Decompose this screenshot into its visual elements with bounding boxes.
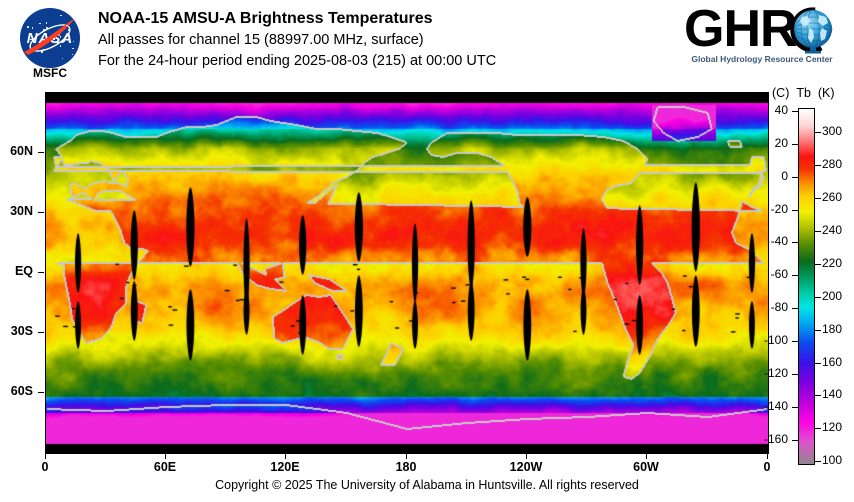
colorbar-label-celsius: -120 <box>744 366 788 380</box>
colorbar-tick-kelvin <box>815 231 821 232</box>
lon-tick <box>45 453 46 459</box>
colorbar-label-celsius: -80 <box>744 300 788 314</box>
lat-label: 60N <box>0 144 33 158</box>
colorbar-tick-kelvin <box>815 132 821 133</box>
ghrc-tagline: Global Hydrology Resource Center <box>682 54 842 64</box>
nasa-star <box>66 25 68 27</box>
lat-label: EQ <box>0 264 33 278</box>
nasa-star <box>68 29 70 31</box>
colorbar-label-celsius: 20 <box>744 136 788 150</box>
colorbar-tick-celsius <box>792 210 798 211</box>
colorbar-tick-celsius <box>792 144 798 145</box>
nasa-star <box>53 38 55 40</box>
lon-label: 60W <box>616 460 676 474</box>
colorbar-label-kelvin: 220 <box>822 256 854 270</box>
colorbar-label-kelvin: 280 <box>822 157 854 171</box>
ghrc-acronym: GHR <box>682 4 842 58</box>
colorbar-tick-kelvin <box>815 198 821 199</box>
colorbar-label-kelvin: 140 <box>822 387 854 401</box>
colorbar-tick-celsius <box>792 440 798 441</box>
colorbar-label-celsius: 40 <box>744 103 788 117</box>
nasa-star <box>57 42 59 44</box>
colorbar-unit-celsius: (C) <box>772 86 789 100</box>
lat-tick <box>38 212 44 213</box>
colorbar-tick-celsius <box>792 308 798 309</box>
lon-tick <box>526 453 527 459</box>
colorbar-label-kelvin: 160 <box>822 355 854 369</box>
brightness-temperature-map[interactable] <box>46 93 768 453</box>
lon-label: 0 <box>15 460 75 474</box>
colorbar-tick-kelvin <box>815 461 821 462</box>
lat-label: 30S <box>0 324 33 338</box>
colorbar-tick-kelvin <box>815 297 821 298</box>
nasa-center-label: MSFC <box>14 66 86 80</box>
colorbar-label-celsius: -60 <box>744 267 788 281</box>
lon-label: 60E <box>135 460 195 474</box>
colorbar-label-kelvin: 260 <box>822 190 854 204</box>
page-title: NOAA-15 AMSU-A Brightness Temperatures <box>98 8 658 30</box>
colorbar[interactable] <box>798 108 815 465</box>
colorbar-label-kelvin: 100 <box>822 453 854 467</box>
lon-label: 0 <box>737 460 797 474</box>
lat-tick <box>38 392 44 393</box>
colorbar-gradient <box>799 109 814 464</box>
colorbar-label-celsius: -140 <box>744 399 788 413</box>
nasa-star <box>60 36 62 38</box>
nasa-star <box>71 59 73 61</box>
nasa-star <box>41 51 43 53</box>
lat-label: 60S <box>0 384 33 398</box>
lon-tick <box>767 453 768 459</box>
colorbar-tick-kelvin <box>815 264 821 265</box>
colorbar-label-celsius: -160 <box>744 432 788 446</box>
ghrc-logo: GHR Global Hydrology Resource Center <box>682 4 842 76</box>
colorbar-unit-kelvin: (K) <box>818 86 835 100</box>
colorbar-label-kelvin: 300 <box>822 124 854 138</box>
colorbar-tick-celsius <box>792 341 798 342</box>
colorbar-tick-celsius <box>792 275 798 276</box>
title-block: NOAA-15 AMSU-A Brightness Temperatures A… <box>98 8 658 72</box>
colorbar-tick-celsius <box>792 177 798 178</box>
lon-tick <box>646 453 647 459</box>
colorbar-variable: Tb <box>796 86 811 100</box>
colorbar-label-celsius: -20 <box>744 202 788 216</box>
lon-label: 120W <box>496 460 556 474</box>
colorbar-tick-kelvin <box>815 363 821 364</box>
nasa-star <box>30 39 32 41</box>
map-panel[interactable] <box>45 92 769 454</box>
colorbar-label-celsius: -40 <box>744 234 788 248</box>
nasa-star <box>63 40 65 42</box>
nasa-logo: NASA MSFC <box>14 6 86 80</box>
colorbar-tick-celsius <box>792 111 798 112</box>
lon-label: 120E <box>255 460 315 474</box>
colorbar-tick-kelvin <box>815 428 821 429</box>
lat-tick <box>38 332 44 333</box>
lon-label: 180 <box>376 460 436 474</box>
lat-label: 30N <box>0 204 33 218</box>
colorbar-tick-kelvin <box>815 165 821 166</box>
colorbar-label-kelvin: 200 <box>822 289 854 303</box>
lon-tick <box>406 453 407 459</box>
nasa-star <box>46 27 48 29</box>
lat-tick <box>38 272 44 273</box>
nasa-star <box>27 26 29 28</box>
nasa-insignia-circle: NASA <box>20 8 80 68</box>
colorbar-label-kelvin: 120 <box>822 420 854 434</box>
subtitle-period: For the 24-hour period ending 2025-08-03… <box>98 51 658 72</box>
colorbar-tick-celsius <box>792 407 798 408</box>
subtitle-channel: All passes for channel 15 (88997.00 MHz,… <box>98 30 658 51</box>
colorbar-header: (C) Tb (K) <box>772 86 854 100</box>
svg-text:GHR: GHR <box>684 4 797 58</box>
colorbar-tick-kelvin <box>815 330 821 331</box>
colorbar-label-celsius: 0 <box>744 169 788 183</box>
colorbar-tick-celsius <box>792 374 798 375</box>
lon-tick <box>165 453 166 459</box>
lon-tick <box>285 453 286 459</box>
copyright-notice: Copyright © 2025 The University of Alaba… <box>0 478 854 492</box>
colorbar-label-celsius: -100 <box>744 333 788 347</box>
colorbar-label-kelvin: 180 <box>822 322 854 336</box>
colorbar-label-kelvin: 240 <box>822 223 854 237</box>
colorbar-tick-kelvin <box>815 395 821 396</box>
colorbar-tick-celsius <box>792 242 798 243</box>
nasa-star <box>60 45 62 47</box>
lat-tick <box>38 152 44 153</box>
